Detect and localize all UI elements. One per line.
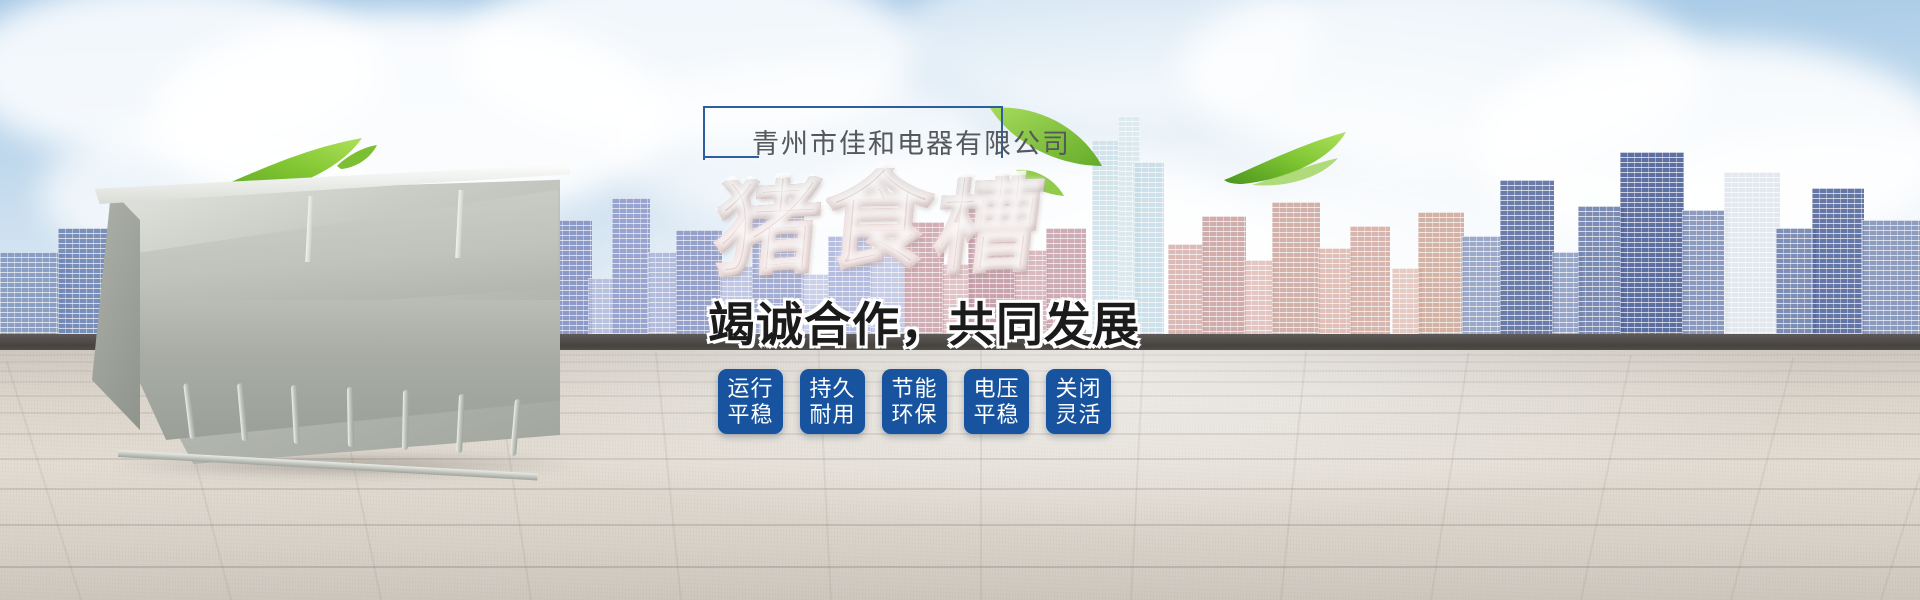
badge-line-1: 电压 [973,376,1019,402]
feature-badge[interactable]: 运行 平稳 [718,369,783,434]
building-shape [1418,212,1464,348]
headline-char: 食 [819,166,937,276]
product-image-pig-trough [72,160,582,465]
badge-line-1: 持久 [809,376,855,402]
paving-joint-horizontal [0,524,1920,526]
building-shape [1500,180,1554,348]
badge-line-1: 运行 [727,376,773,402]
feature-badge-list: 运行 平稳 持久 耐用 节能 环保 电压 平稳 关闭 灵活 [718,369,1111,434]
promo-banner: 青州市佳和电器有限公司 猪 食 槽 竭诚合作，共同发展 运行 平稳 持久 耐用 … [0,0,1920,600]
paving-joint-horizontal [0,488,1920,490]
feature-badge[interactable]: 持久 耐用 [800,369,865,434]
building-shape [1812,188,1864,348]
building-shape [1202,216,1246,348]
badge-line-1: 节能 [891,376,937,402]
badge-line-2: 平稳 [727,402,773,428]
building-shape [1272,202,1320,348]
building-shape [1168,244,1204,348]
feature-badge[interactable]: 节能 环保 [882,369,947,434]
building-shape [1776,228,1816,348]
building-shape [1578,206,1624,348]
headline-char: 猪 [711,175,825,284]
paving-joint-horizontal [0,566,1920,568]
building-shape [1318,248,1352,348]
building-shape [1724,172,1780,348]
badge-line-2: 耐用 [809,402,855,428]
headline: 猪 食 槽 [713,168,1043,283]
badge-line-2: 环保 [891,402,937,428]
feature-badge[interactable]: 关闭 灵活 [1046,369,1111,434]
building-shape [1682,210,1728,348]
company-name: 青州市佳和电器有限公司 [752,122,1071,161]
subline-slogan: 竭诚合作，共同发展 [708,286,1068,355]
building-shape [1862,220,1920,348]
badge-line-2: 灵活 [1055,402,1101,428]
badge-line-1: 关闭 [1055,376,1101,402]
feature-badge[interactable]: 电压 平稳 [964,369,1029,434]
building-shape [1462,236,1502,348]
building-shape [1620,152,1684,348]
building-shape [612,198,650,348]
trough-bar [402,390,409,450]
trough-left-side-panel [80,190,140,440]
badge-line-2: 平稳 [973,402,1019,428]
headline-char: 槽 [929,174,1046,282]
trough-bar [347,387,354,447]
building-shape [1350,226,1390,348]
